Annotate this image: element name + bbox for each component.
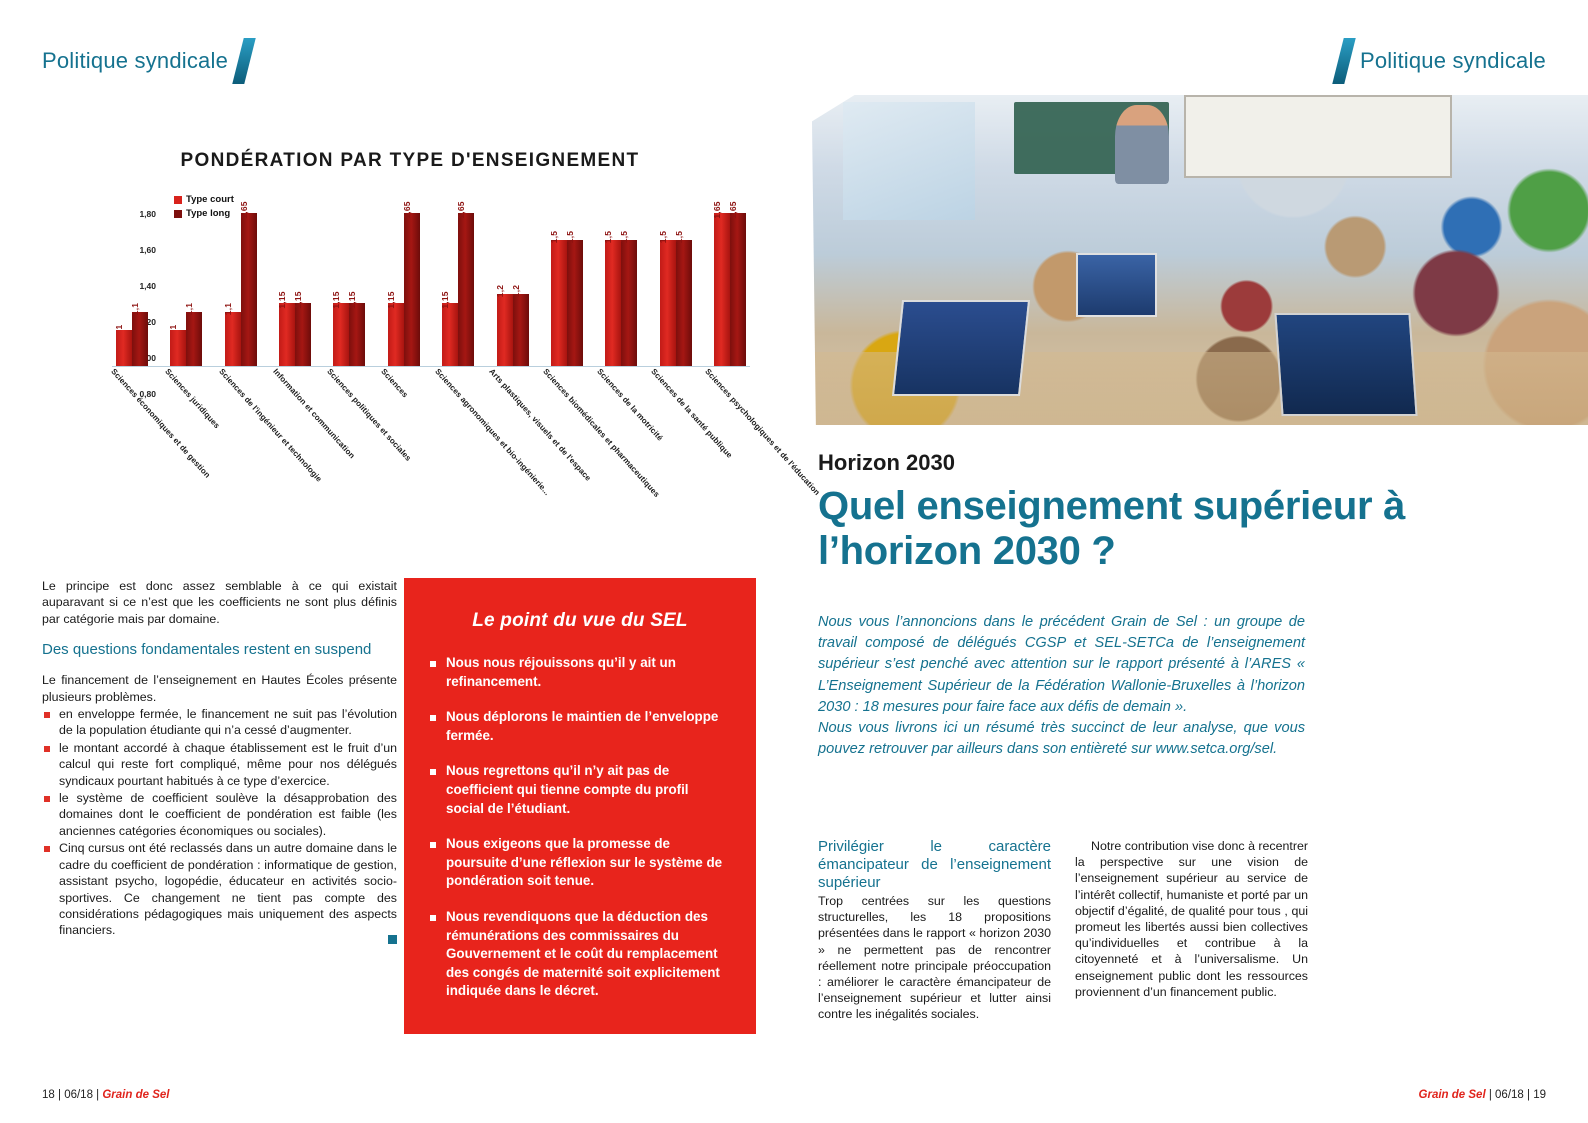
- x-tick-label: Sciences: [379, 367, 409, 399]
- chart-bar-value-label: 1,65: [402, 201, 412, 218]
- running-head-left: Politique syndicale: [42, 38, 250, 84]
- article-column-2: Notre contribution vise donc à recentrer…: [1075, 838, 1308, 1023]
- running-head-right-label: Politique syndicale: [1360, 48, 1546, 74]
- chart-bar-value-label: 1,2: [511, 285, 521, 297]
- photo-image: [812, 95, 1588, 425]
- photo-laptop: [1274, 313, 1417, 416]
- x-tick-label: Sciences économiques et de gestion: [109, 367, 212, 480]
- slash-accent-icon: [1332, 38, 1355, 84]
- chart-bar-value-label: 1: [114, 325, 124, 330]
- chart-bar: 1,15: [442, 303, 458, 366]
- chart-bar: 1,65: [241, 213, 257, 366]
- chart-bar: 1,1: [225, 312, 241, 366]
- x-tick-label: Sciences agronomiques et bio-ingénierie.…: [433, 367, 551, 497]
- list-item: le système de coefficient soulève la dés…: [42, 790, 397, 839]
- chart-bar-value-label: 1,15: [440, 291, 450, 308]
- lecture-hall-photo: [812, 95, 1588, 425]
- chart-bar-group: 1,151,15: [279, 186, 311, 366]
- left-text-column: Le principe est donc assez semblable à c…: [42, 578, 397, 940]
- chart-bar: 1,65: [730, 213, 746, 366]
- chart-bar: 1,5: [605, 240, 621, 366]
- chart-bar: 1,5: [551, 240, 567, 366]
- chart-bar: 1,65: [714, 213, 730, 366]
- chart-bar-value-label: 1,65: [712, 201, 722, 218]
- chart-plot-area: 1,801,601,401,201,000,80 Type court Type…: [112, 186, 750, 367]
- folio-right: Grain de Sel | 06/18 | 19: [1419, 1089, 1546, 1101]
- x-tick-label: Arts plastiques, visuels et de l'espace: [487, 367, 592, 483]
- article-column-1-heading: Privilégier le caractère émancipateur de…: [818, 838, 1051, 892]
- chart-bar-group: 1,151,15: [333, 186, 365, 366]
- chart-bar-group: 1,51,5: [605, 186, 637, 366]
- article-headline: Quel enseignement supérieur à l’horizon …: [818, 484, 1518, 574]
- chart-x-axis: Sciences économiques et de gestionScienc…: [112, 367, 760, 517]
- chart-bar: 1,65: [458, 213, 474, 366]
- chart-bar-value-label: 1,5: [549, 231, 559, 243]
- list-item: le montant accordé à chaque établissemen…: [42, 740, 397, 789]
- chart-bar-value-label: 1: [168, 325, 178, 330]
- end-mark-icon: [388, 935, 397, 944]
- chart-bar: 1,5: [621, 240, 637, 366]
- photo-laptop: [892, 300, 1030, 396]
- chart-bar-value-label: 1,15: [347, 291, 357, 308]
- chart-bars: 11,111,11,11,651,151,151,151,151,151,651…: [112, 186, 750, 366]
- chart-bar-value-label: 1,5: [619, 231, 629, 243]
- list-item: en enveloppe fermée, le financement ne s…: [42, 706, 397, 739]
- chart-title: PONDÉRATION PAR TYPE D'ENSEIGNEMENT: [60, 150, 760, 172]
- chart-bar-group: 1,651,65: [714, 186, 746, 366]
- running-head-right: Politique syndicale: [1338, 38, 1546, 84]
- chart-bar-value-label: 1,5: [565, 231, 575, 243]
- standfirst-paragraph-2: Nous vous livrons ici un résumé très suc…: [818, 718, 1305, 760]
- chart-ponderation: PONDÉRATION PAR TYPE D'ENSEIGNEMENT 1,80…: [60, 150, 760, 510]
- chart-bar-value-label: 1,2: [495, 285, 505, 297]
- x-tick-label: Sciences biomédicales et pharmaceutiques: [541, 367, 661, 499]
- list-item: Nous regrettons qu’il n’y ait pas de coe…: [430, 762, 730, 818]
- chart-bar: 1,2: [497, 294, 513, 366]
- left-bullet-list: en enveloppe fermée, le financement ne s…: [42, 706, 397, 939]
- list-item: Nous déplorons le maintien de l’envelopp…: [430, 708, 730, 745]
- chart-bar-group: 11,1: [170, 186, 202, 366]
- chart-bar: 1,15: [333, 303, 349, 366]
- chart-bar-group: 1,51,5: [660, 186, 692, 366]
- chart-bar: 1,15: [349, 303, 365, 366]
- chart-bar-value-label: 1,15: [386, 291, 396, 308]
- chart-bar: 1,2: [513, 294, 529, 366]
- x-tick-label: Sciences de l'ingénieur et technologie: [217, 367, 323, 484]
- chart-bar: 1,1: [132, 312, 148, 366]
- folio-publication-title: Grain de Sel: [102, 1089, 169, 1101]
- slash-accent-icon: [232, 38, 255, 84]
- left-subheading: Des questions fondamentales restent en s…: [42, 640, 397, 659]
- chart-bar-value-label: 1,5: [603, 231, 613, 243]
- article-kicker: Horizon 2030: [818, 450, 955, 476]
- running-head-left-label: Politique syndicale: [42, 48, 228, 74]
- chart-bar: 1: [116, 330, 132, 366]
- chart-bar: 1,15: [295, 303, 311, 366]
- list-item: Nous revendiquons que la déduction des r…: [430, 908, 730, 1001]
- chart-bar-value-label: 1,1: [223, 303, 233, 315]
- chart-bar-value-label: 1,15: [293, 291, 303, 308]
- chart-bar: 1,5: [567, 240, 583, 366]
- intro-paragraph: Le principe est donc assez semblable à c…: [42, 578, 397, 627]
- folio-left: 18 | 06/18 | Grain de Sel: [42, 1089, 169, 1101]
- photo-teacher: [1115, 105, 1169, 184]
- left-lead-paragraph: Le financement de l’enseignement en Haut…: [42, 672, 397, 705]
- folio-date: 06/18: [1495, 1089, 1524, 1101]
- chart-bar-value-label: 1,1: [130, 303, 140, 315]
- chart-bar-value-label: 1,5: [658, 231, 668, 243]
- chart-bar: 1,15: [388, 303, 404, 366]
- chart-bar-value-label: 1,15: [277, 291, 287, 308]
- chart-bar-value-label: 1,1: [184, 303, 194, 315]
- chart-bar-group: 1,21,2: [497, 186, 529, 366]
- list-item: Cinq cursus ont été reclassés dans un au…: [42, 840, 397, 938]
- chart-bar: 1,5: [660, 240, 676, 366]
- chart-bar-value-label: 1,15: [331, 291, 341, 308]
- photo-projection-screen: [1184, 95, 1452, 178]
- sel-opinion-title: Le point du vue du SEL: [430, 610, 730, 632]
- magazine-spread: Politique syndicale Politique syndicale …: [0, 0, 1588, 1123]
- x-tick-label: Sciences juridiques: [163, 367, 221, 430]
- x-tick-label: Sciences psychologiques et de l'éducatio…: [703, 367, 821, 497]
- article-column-2-body: Notre contribution vise donc à recentrer…: [1075, 838, 1308, 1000]
- chart-bar-group: 1,51,5: [551, 186, 583, 366]
- photo-window: [843, 102, 975, 221]
- sel-opinion-box: Le point du vue du SEL Nous nous réjouis…: [404, 578, 756, 1034]
- photo-laptop: [1076, 253, 1158, 316]
- chart-bar: 1,15: [279, 303, 295, 366]
- chart-bar-value-label: 1,65: [728, 201, 738, 218]
- article-body-columns: Privilégier le caractère émancipateur de…: [818, 838, 1308, 1023]
- chart-bar-group: 11,1: [116, 186, 148, 366]
- article-column-1-body: Trop centrées sur les questions structur…: [818, 893, 1051, 1023]
- chart-bar-value-label: 1,65: [239, 201, 249, 218]
- sel-opinion-list: Nous nous réjouissons qu’il y ait un ref…: [430, 654, 730, 1001]
- chart-bar-value-label: 1,65: [456, 201, 466, 218]
- article-column-1: Privilégier le caractère émancipateur de…: [818, 838, 1051, 1023]
- article-standfirst: Nous vous l’annoncions dans le précédent…: [818, 612, 1305, 760]
- chart-bar-group: 1,151,65: [388, 186, 420, 366]
- chart-bar: 1,1: [186, 312, 202, 366]
- chart-bar-value-label: 1,5: [674, 231, 684, 243]
- folio-publication-title: Grain de Sel: [1419, 1089, 1486, 1101]
- chart-bar-group: 1,151,65: [442, 186, 474, 366]
- folio-page-number: 19: [1533, 1089, 1546, 1101]
- standfirst-paragraph-1: Nous vous l’annoncions dans le précédent…: [818, 612, 1305, 718]
- chart-bar: 1: [170, 330, 186, 366]
- folio-date: 06/18: [64, 1089, 93, 1101]
- list-item: Nous exigeons que la promesse de poursui…: [430, 835, 730, 891]
- chart-bar-group: 1,11,65: [225, 186, 257, 366]
- chart-bar: 1,5: [676, 240, 692, 366]
- folio-page-number: 18: [42, 1089, 55, 1101]
- list-item: Nous nous réjouissons qu’il y ait un ref…: [430, 654, 730, 691]
- chart-bar: 1,65: [404, 213, 420, 366]
